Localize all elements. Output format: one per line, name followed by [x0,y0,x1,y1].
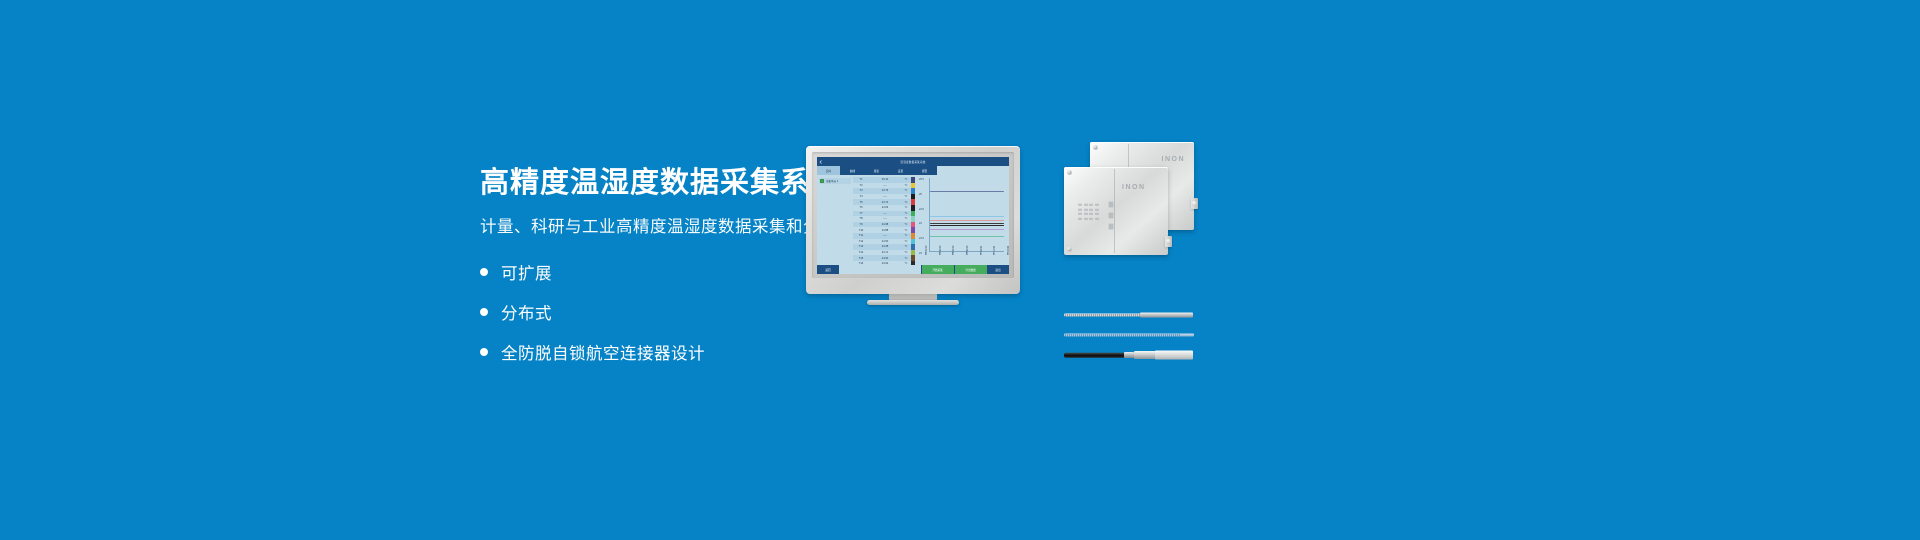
tab-alarm[interactable]: 报警 [913,166,936,175]
vent-grid-icon [1078,203,1099,220]
x-axis: 10:20:0010:30:0010:40:0010:50:0011:00:00… [925,252,1007,265]
channel-unit: ℃ [901,217,911,220]
monitor-case: 温湿度数据采集系统 实时 曲线 报表 设置 报警 [806,146,1020,294]
x-tick-label: 11:10:00 [993,246,996,255]
bullet-dot-icon [480,348,488,356]
y-tick-label: 23.5 [919,237,924,240]
app-body: 采集单元 1 T125.10℃T2----℃T324.79℃T4----℃T52… [817,175,1009,265]
back-arrow-icon[interactable] [819,160,823,164]
x-tick-label: 11:00:00 [980,246,983,255]
feature-label: 分布式 [501,300,552,324]
channel-value: 24.90 [869,257,901,260]
bullet-dot-icon [480,268,488,276]
channel-value: ---- [869,234,901,237]
channel-value: 24.98 [869,223,901,226]
y-tick-label: 24 [919,222,922,225]
channel-unit: ℃ [901,229,911,232]
channel-unit: ℃ [901,201,911,204]
screw-icon [1067,170,1072,175]
monitor-bezel: 温湿度数据采集系统 实时 曲线 报表 设置 报警 [812,152,1014,278]
sidebar-item-label: 采集单元 1 [826,179,838,183]
channel-unit: ℃ [901,234,911,237]
x-tick-label: 10:30:00 [939,246,942,255]
channel-value: 24.71 [869,251,901,254]
chart-trace [930,223,1004,224]
monitor-screen: 温湿度数据采集系统 实时 曲线 报表 设置 报警 [817,157,1009,274]
module-brand-front: INON [1122,184,1146,191]
chart-trace [930,229,1004,230]
screw-icon [1093,145,1098,150]
channel-id: T2 [853,184,869,187]
x-tick-label: 10:40:00 [952,246,955,255]
footer-spacer [839,265,921,274]
channel-value: 24.88 [869,229,901,232]
feature-label: 全防脱自锁航空连接器设计 [501,340,705,364]
monitor-stand-base [867,300,959,305]
y-tick-label: 24.5 [919,208,924,211]
channel-value: ---- [869,184,901,187]
channel-value: ---- [869,217,901,220]
app-titlebar: 温湿度数据采集系统 [817,157,1009,166]
channel-unit: ℃ [901,240,911,243]
chart-trace [930,216,1004,217]
channel-id: T5 [853,201,869,204]
module-brand-rear: INON [1162,156,1186,163]
chart-traces [929,178,1004,252]
tab-report[interactable]: 报表 [865,166,888,175]
sidebar-item-unit[interactable]: 采集单元 1 [819,178,851,184]
tab-settings[interactable]: 设置 [889,166,912,175]
chart-plot-area: 25.52524.52423.523 [919,178,1006,252]
device-tree-sidebar: 采集单元 1 [817,175,853,265]
channel-value: 25.10 [869,178,901,181]
channel-id: T11 [853,234,869,237]
back-button[interactable]: 返回 [817,265,839,274]
connector-port [1191,198,1198,209]
channel-unit: ℃ [901,251,911,254]
footer-toolbar: 返回 开始采集 导出数据 退出 [817,265,1009,274]
channel-id: T10 [853,229,869,232]
chart-trace [930,191,1004,192]
blue-humidity-probe [1064,332,1196,338]
start-acquisition-button[interactable]: 开始采集 [922,265,954,274]
chart-trace [930,220,1004,221]
y-tick-label: 25 [919,193,922,196]
monitor-device: 温湿度数据采集系统 实时 曲线 报表 设置 报警 [806,146,1020,294]
channel-value: 24.63 [869,206,901,209]
acquisition-module-front: INON [1064,167,1168,255]
channel-id: T12 [853,240,869,243]
channel-id: T7 [853,212,869,215]
y-axis: 25.52524.52423.523 [919,178,928,252]
channel-id: T4 [853,195,869,198]
chart-trace [930,225,1004,226]
x-tick-label: 10:50:00 [966,246,969,255]
trend-chart: 25.52524.52423.523 10:20:0010:30:0010:40… [915,175,1009,265]
screw-icon [1067,247,1072,252]
channel-id: T8 [853,217,869,220]
channel-id: T3 [853,189,869,192]
status-online-icon [820,179,824,183]
tab-bar: 实时 曲线 报表 设置 报警 [817,166,1009,175]
channel-value: 24.28 [869,245,901,248]
y-tick-label: 25.5 [919,178,924,181]
acquisition-modules: INON INON [1064,142,1196,302]
channel-table: T125.10℃T2----℃T324.79℃T4----℃T524.72℃T6… [853,175,911,265]
sensor-probes [1064,310,1196,368]
export-data-button[interactable]: 导出数据 [955,265,987,274]
channel-value: 24.72 [869,201,901,204]
channel-unit: ℃ [901,212,911,215]
braided-temperature-probe [1064,312,1196,318]
channel-id: T1 [853,178,869,181]
channel-unit: ℃ [901,245,911,248]
tab-realtime[interactable]: 实时 [817,166,840,175]
app-title: 温湿度数据采集系统 [900,160,925,164]
connector-port [1165,236,1172,247]
channel-id: T13 [853,245,869,248]
channel-unit: ℃ [901,206,911,209]
channel-unit: ℃ [901,184,911,187]
x-tick-label: 11:20:00 [1007,246,1009,255]
feature-label: 可扩展 [501,260,552,284]
channel-unit: ℃ [901,189,911,192]
channel-value: ---- [869,195,901,198]
channel-unit: ℃ [901,178,911,181]
channel-id: T14 [853,251,869,254]
channel-unit: ℃ [901,257,911,260]
port-stack-icon [1108,201,1114,230]
channel-value: 24.79 [869,189,901,192]
channel-id: T15 [853,257,869,260]
channel-unit: ℃ [901,195,911,198]
channel-value: ---- [869,212,901,215]
channel-unit: ℃ [901,223,911,226]
channel-id: T9 [853,223,869,226]
channel-value: 24.90 [869,240,901,243]
y-tick-label: 23 [919,252,922,255]
exit-button[interactable]: 退出 [987,265,1009,274]
channel-id: T6 [853,206,869,209]
tab-bar-filler [937,166,1009,175]
chart-trace [930,236,1004,237]
hero-banner: 高精度温湿度数据采集系统 计量、科研与工业高精度温湿度数据采集和分析整体解决方案… [0,0,1920,540]
aviation-connector-probe [1064,352,1196,358]
bullet-dot-icon [480,308,488,316]
x-tick-label: 10:20:00 [925,246,928,255]
list-item: 全防脱自锁航空连接器设计 [480,340,960,364]
tab-curve[interactable]: 曲线 [841,166,864,175]
